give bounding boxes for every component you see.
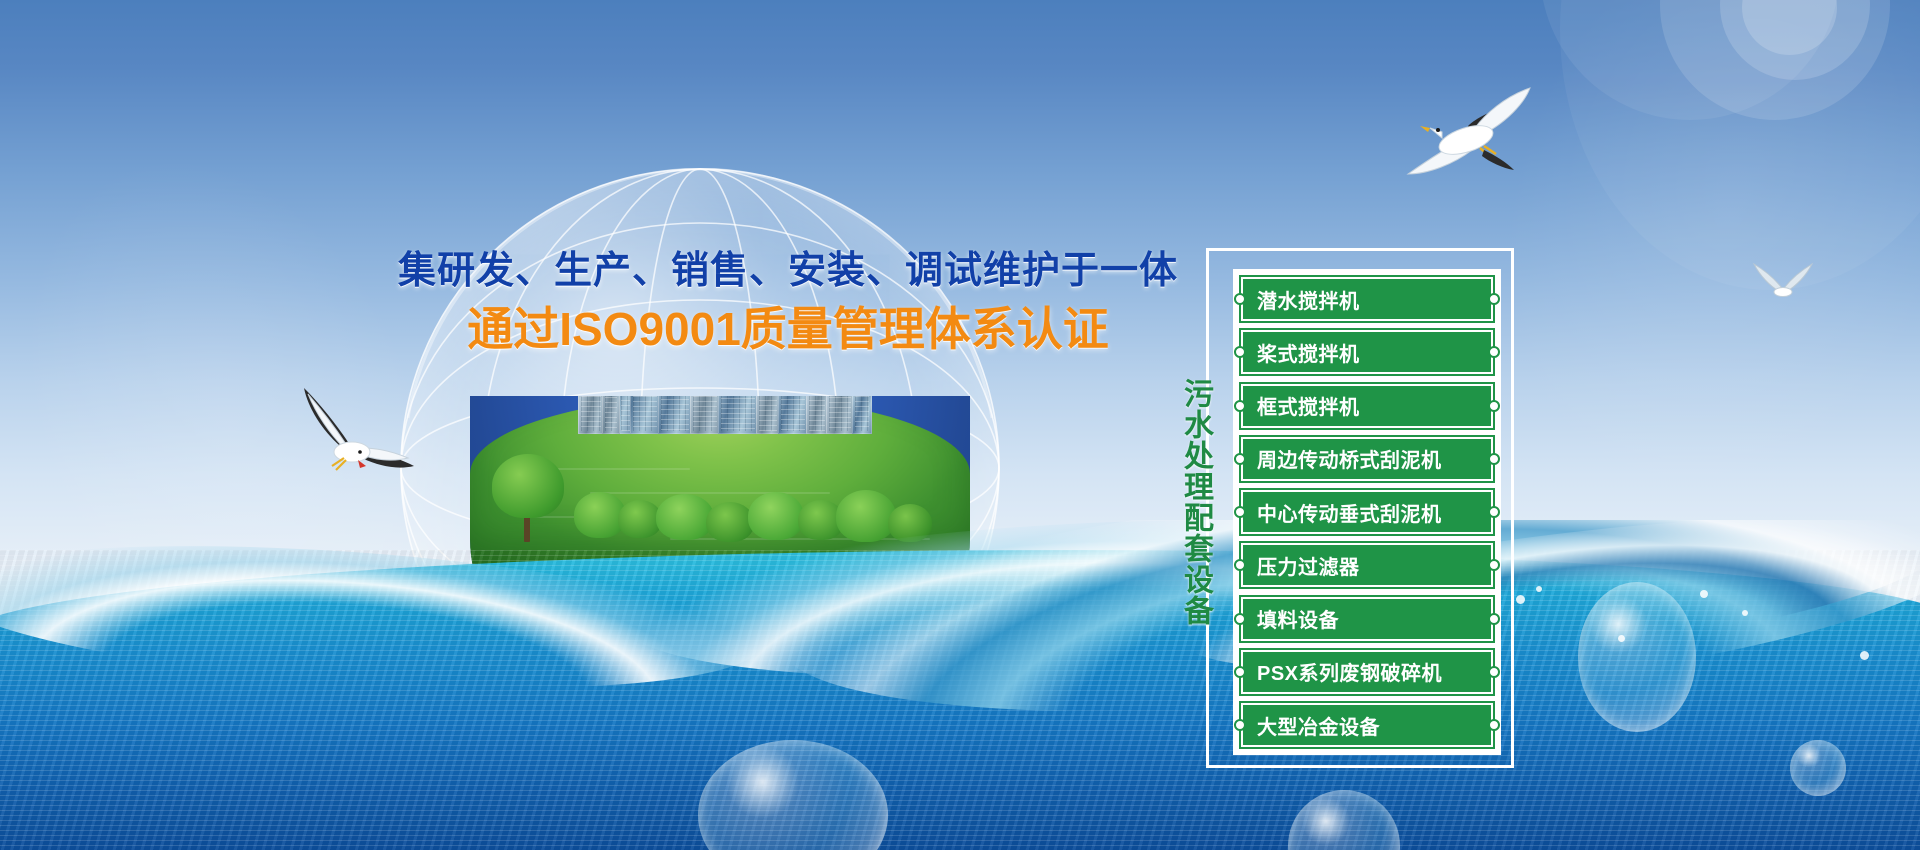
product-item-0[interactable]: 潜水搅拌机	[1241, 277, 1493, 321]
eyelet-left-icon	[1234, 719, 1246, 731]
eyelet-right-icon	[1488, 559, 1500, 571]
eyelet-right-icon	[1488, 613, 1500, 625]
product-item-5[interactable]: 压力过滤器	[1241, 543, 1493, 587]
bokeh-circle-1	[1660, 0, 1890, 120]
product-item-1[interactable]: 桨式搅拌机	[1241, 330, 1493, 374]
seagull-icon-large	[1380, 48, 1550, 188]
headline-line-1: 集研发、生产、销售、安装、调试维护于一体	[388, 248, 1188, 296]
bokeh-circle-5	[1560, 0, 1920, 290]
product-item-label: 周边传动桥式刮泥机	[1243, 444, 1442, 473]
bubble-icon	[1790, 740, 1846, 796]
bokeh-circle-3	[1540, 0, 1840, 120]
product-item-6[interactable]: 填料设备	[1241, 597, 1493, 641]
eyelet-left-icon	[1234, 453, 1246, 465]
product-item-7[interactable]: PSX系列废钢破碎机	[1241, 650, 1493, 694]
eyelet-right-icon	[1488, 666, 1500, 678]
product-item-label: PSX系列废钢破碎机	[1243, 657, 1442, 686]
product-item-label: 桨式搅拌机	[1243, 338, 1360, 367]
product-item-label: 潜水搅拌机	[1243, 285, 1360, 314]
eyelet-right-icon	[1488, 453, 1500, 465]
eyelet-right-icon	[1488, 719, 1500, 731]
product-list-inner: 潜水搅拌机 桨式搅拌机 框式搅拌机 周边传动桥式刮泥机	[1233, 269, 1501, 755]
product-item-label: 压力过滤器	[1243, 551, 1360, 580]
bokeh-circle-4	[1742, 0, 1837, 55]
panel-vertical-title: 污水处理配套设备	[1176, 378, 1210, 626]
product-item-8[interactable]: 大型冶金设备	[1241, 703, 1493, 747]
seagull-icon-mid	[288, 370, 418, 482]
eyelet-left-icon	[1234, 400, 1246, 412]
eyelet-right-icon	[1488, 293, 1500, 305]
water-section	[0, 520, 1920, 850]
product-item-4[interactable]: 中心传动垂式刮泥机	[1241, 490, 1493, 534]
product-item-2[interactable]: 框式搅拌机	[1241, 384, 1493, 428]
seagull-icon-small	[1748, 258, 1818, 310]
eyelet-right-icon	[1488, 400, 1500, 412]
product-item-label: 大型冶金设备	[1243, 711, 1380, 740]
eyelet-right-icon	[1488, 506, 1500, 518]
bokeh-circle-2	[1720, 0, 1870, 80]
product-item-3[interactable]: 周边传动桥式刮泥机	[1241, 437, 1493, 481]
eyelet-left-icon	[1234, 613, 1246, 625]
product-item-label: 中心传动垂式刮泥机	[1243, 498, 1442, 527]
product-item-label: 框式搅拌机	[1243, 391, 1360, 420]
product-list: 潜水搅拌机 桨式搅拌机 框式搅拌机 周边传动桥式刮泥机	[1241, 277, 1493, 747]
headline-line-2: 通过ISO9001质量管理体系认证	[388, 302, 1188, 357]
eyelet-left-icon	[1234, 506, 1246, 518]
headline-block: 集研发、生产、销售、安装、调试维护于一体 通过ISO9001质量管理体系认证	[388, 248, 1188, 357]
eyelet-left-icon	[1234, 293, 1246, 305]
bubble-icon	[1578, 582, 1696, 732]
product-list-panel: 潜水搅拌机 桨式搅拌机 框式搅拌机 周边传动桥式刮泥机	[1206, 248, 1514, 768]
product-item-label: 填料设备	[1243, 604, 1339, 633]
eyelet-right-icon	[1488, 346, 1500, 358]
city-skyline	[566, 396, 886, 434]
eyelet-left-icon	[1234, 666, 1246, 678]
tree-icon	[492, 454, 564, 518]
eco-water-treatment-banner: 集研发、生产、销售、安装、调试维护于一体 通过ISO9001质量管理体系认证	[0, 0, 1920, 850]
